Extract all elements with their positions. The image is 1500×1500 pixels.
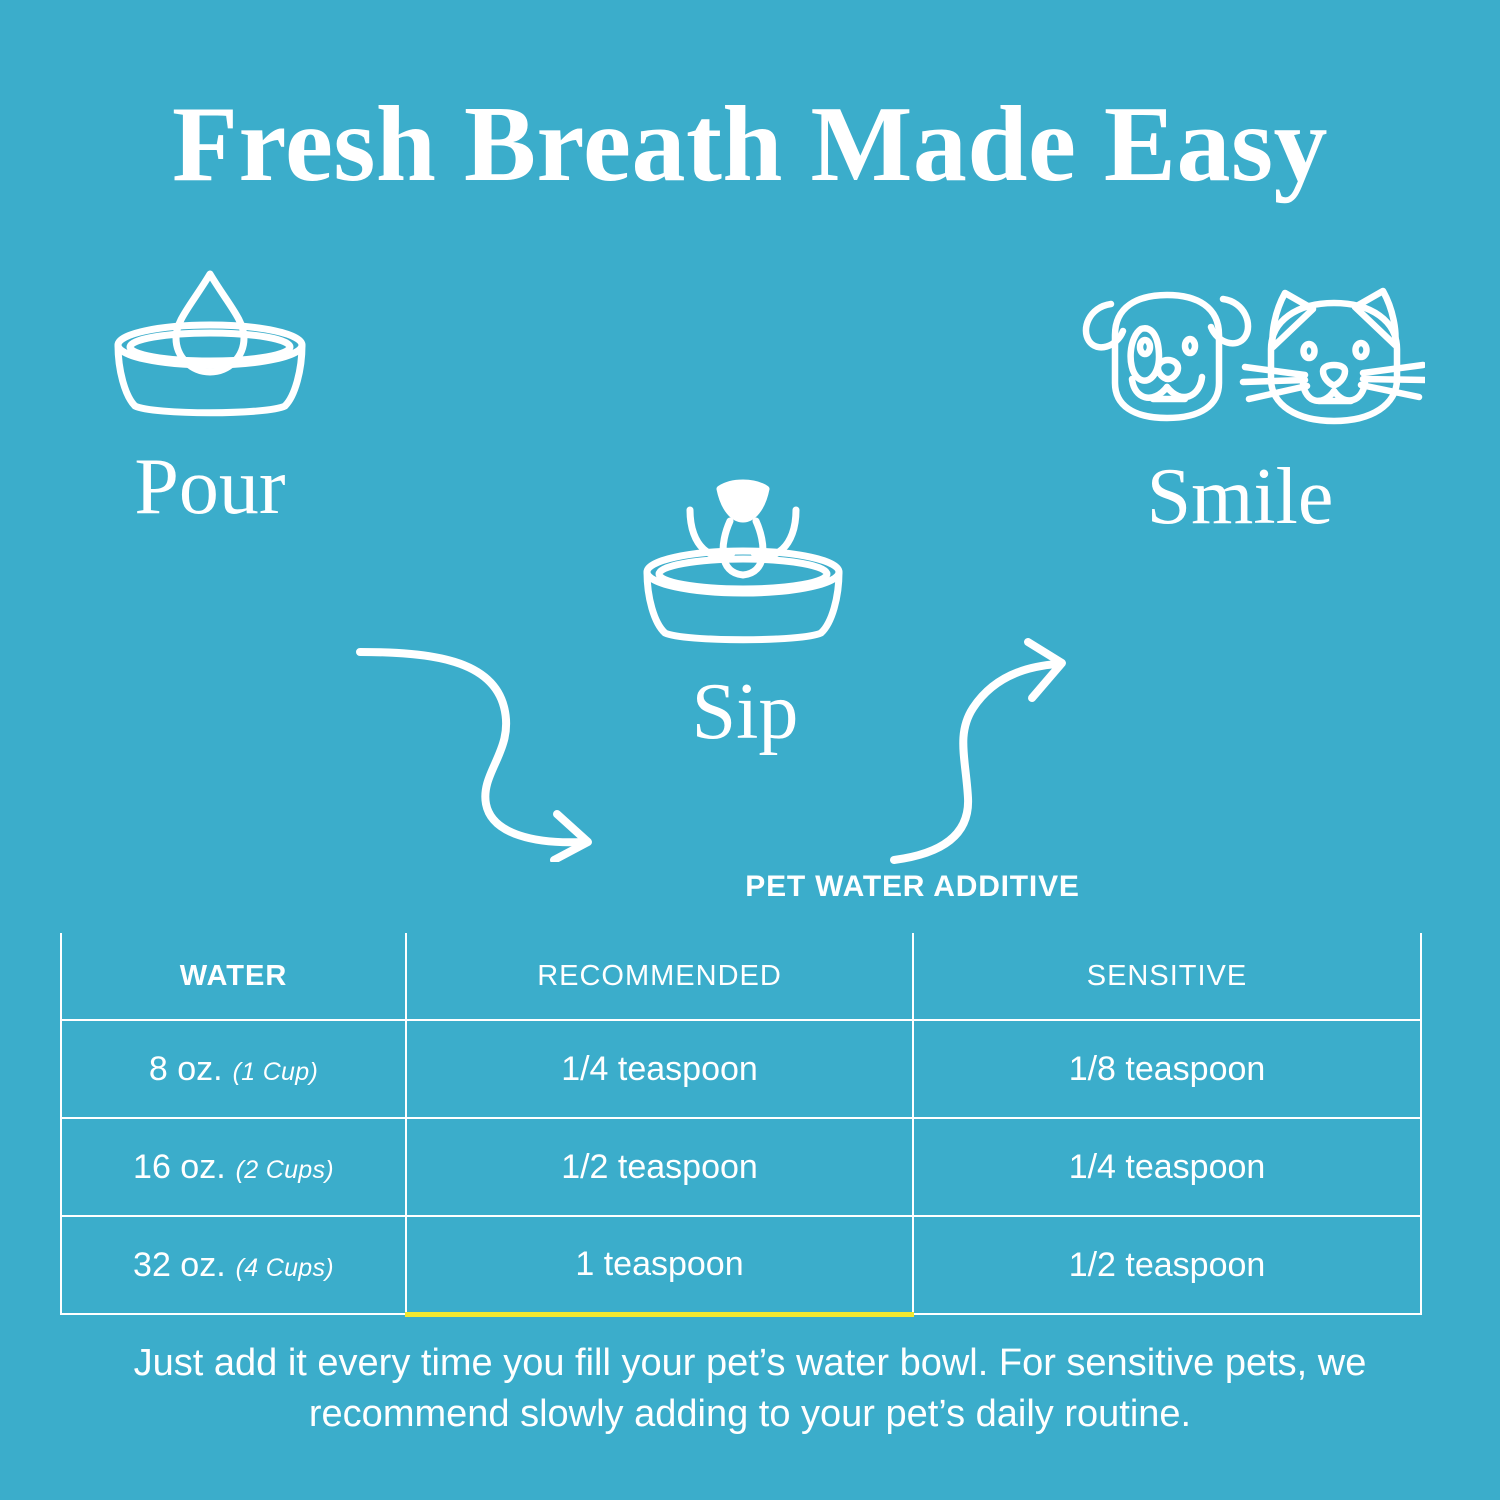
footnote-text: Just add it every time you fill your pet… (95, 1338, 1405, 1441)
flow-step-label-sip: Sip (620, 672, 870, 752)
column-header-sensitive: SENSITIVE (913, 933, 1421, 1020)
cell-water-amount: 16 oz.(2 Cups) (61, 1118, 406, 1216)
cell-sensitive-dose: 1/8 teaspoon (913, 1020, 1421, 1118)
water-drop-over-pet-bowl-icon (95, 260, 325, 425)
flow-step-label-pour: Pour (95, 447, 325, 527)
table-row: 8 oz.(1 Cup) 1/4 teaspoon 1/8 teaspoon (61, 1020, 1421, 1118)
water-amount-value: 16 oz. (133, 1148, 226, 1186)
flow-step-sip: Sip (620, 475, 870, 752)
table-row: 32 oz.(4 Cups) 1 teaspoon 1/2 teaspoon (61, 1216, 1421, 1314)
water-cups-value: (2 Cups) (236, 1156, 334, 1184)
cell-recommended-dose: 1/2 teaspoon (406, 1118, 913, 1216)
cell-recommended-dose: 1/4 teaspoon (406, 1020, 913, 1118)
water-cups-value: (1 Cup) (233, 1058, 318, 1086)
cell-water-amount: 32 oz.(4 Cups) (61, 1216, 406, 1314)
curved-arrow-sip-to-smile (878, 628, 1093, 868)
cell-recommended-dose: 1 teaspoon (406, 1216, 913, 1314)
flow-section: Pour (0, 250, 1500, 780)
infographic-page: Fresh Breath Made Easy Pour (0, 0, 1500, 1500)
table-row: 16 oz.(2 Cups) 1/2 teaspoon 1/4 teaspoon (61, 1118, 1421, 1216)
table-super-header: PET WATER ADDITIVE (405, 870, 1420, 904)
water-amount-value: 32 oz. (133, 1246, 226, 1284)
column-header-recommended: RECOMMENDED (406, 933, 913, 1020)
water-cups-value: (4 Cups) (236, 1254, 334, 1282)
cell-sensitive-dose: 1/4 teaspoon (913, 1118, 1421, 1216)
page-title: Fresh Breath Made Easy (0, 88, 1500, 201)
flow-step-pour: Pour (95, 260, 325, 527)
flow-step-label-smile: Smile (1055, 457, 1425, 537)
curved-arrow-pour-to-sip (352, 632, 612, 862)
dog-face-icon (1086, 295, 1248, 418)
cell-sensitive-dose: 1/2 teaspoon (913, 1216, 1421, 1314)
flow-step-smile: Smile (1055, 275, 1425, 537)
column-header-water: WATER (61, 933, 406, 1020)
cell-water-amount: 8 oz.(1 Cup) (61, 1020, 406, 1118)
dog-and-cat-faces-icon (1055, 275, 1425, 435)
water-amount-value: 8 oz. (149, 1050, 223, 1088)
dosage-table: WATER RECOMMENDED SENSITIVE 8 oz.(1 Cup)… (60, 933, 1422, 1317)
table-header-row: WATER RECOMMENDED SENSITIVE (61, 933, 1421, 1020)
pet-drinking-from-bowl-icon (620, 475, 870, 650)
cat-face-icon (1243, 291, 1425, 421)
